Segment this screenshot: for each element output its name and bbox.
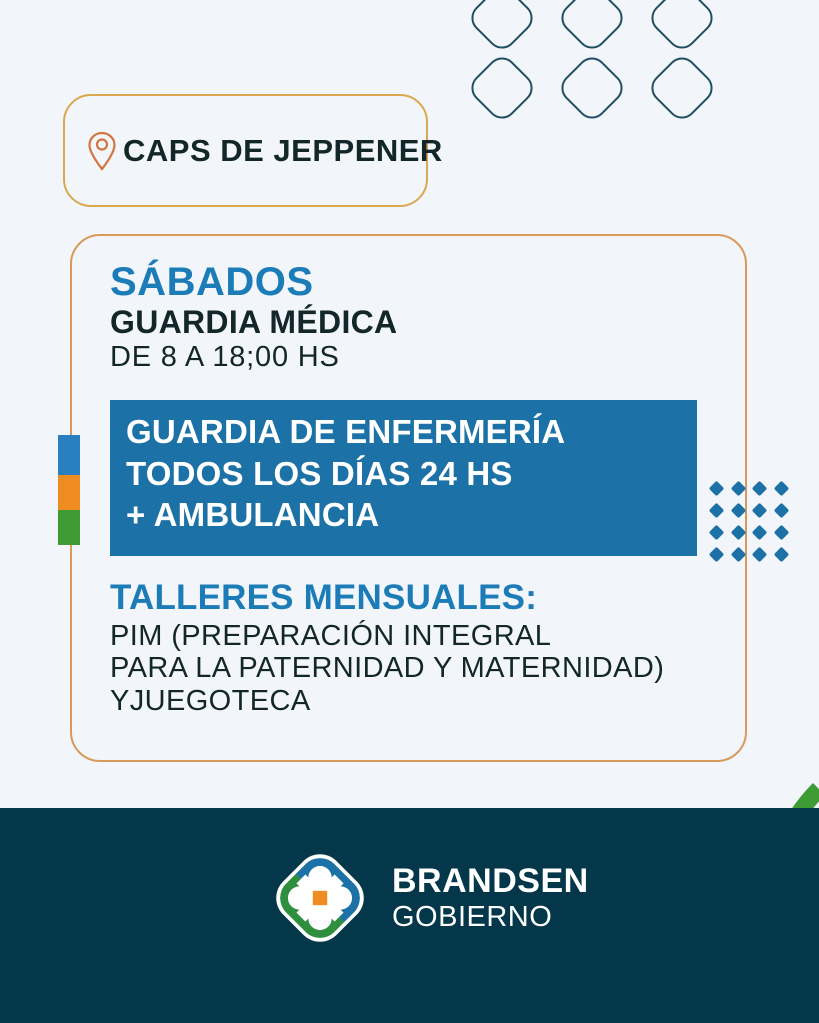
diamond-dot-icon [773,524,789,540]
rounded-square-icon [555,51,629,125]
heading-talleres: TALLERES MENSUALES: [110,580,770,617]
banner-line-1: GUARDIA DE ENFERMERÍA [126,411,697,453]
decorative-dot-grid [706,477,792,565]
workshop-line-1: PIM (PREPARACIÓN INTEGRAL [110,620,770,652]
accent-bar-green-segment [58,510,80,545]
dot-cell [706,543,728,565]
dot-cell [728,499,750,521]
brand-lockup: BRANDSEN GOBIERNO [266,844,589,952]
diamond-dot-icon [773,502,789,518]
dot-cell [749,521,771,543]
dot-cell [706,499,728,521]
decorative-rounded-squares [462,0,742,130]
dot-cell [771,499,793,521]
diamond-dot-icon [709,502,725,518]
workshop-line-2: PARA LA PATERNIDAD Y MATERNIDAD) [110,652,770,684]
dot-cell [728,543,750,565]
rounded-square-icon [555,0,629,55]
schedule-text: DE 8 A 18;00 HS [110,342,750,374]
heading-guardia-medica: GUARDIA MÉDICA [110,306,750,340]
banner-line-3: + AMBULANCIA [126,494,697,536]
banner-line-2: TODOS LOS DÍAS 24 HS [126,453,697,495]
dot-cell [749,499,771,521]
diamond-dot-icon [730,524,746,540]
card-heading-block: SÁBADOS GUARDIA MÉDICA DE 8 A 18;00 HS [110,262,750,373]
rounded-square-icon [645,0,719,55]
dot-cell [706,477,728,499]
diamond-dot-icon [752,480,768,496]
rounded-square-icon [465,0,539,55]
dot-cell [771,521,793,543]
rounded-square-icon [645,51,719,125]
diamond-dot-icon [773,546,789,562]
diamond-dot-icon [773,480,789,496]
workshop-line-3: YJUEGOTECA [110,685,770,717]
location-chip: CAPS DE JEPPENER [63,94,428,207]
brandsen-clover-logo-icon [266,844,374,952]
accent-bar-blue-segment [58,435,80,475]
location-label: CAPS DE JEPPENER [123,133,443,169]
rounded-square-icon [465,51,539,125]
dot-cell [728,521,750,543]
dot-cell [706,521,728,543]
diamond-dot-icon [709,480,725,496]
dot-cell [771,477,793,499]
diamond-dot-icon [709,546,725,562]
diamond-dot-icon [730,480,746,496]
diamond-dot-icon [752,524,768,540]
map-pin-icon [85,130,119,172]
diamond-dot-icon [730,546,746,562]
accent-bar-orange-segment [58,475,80,510]
footer-bar: BRANDSEN GOBIERNO [0,808,819,1023]
diamond-dot-icon [730,502,746,518]
heading-sabados: SÁBADOS [110,262,750,302]
dot-cell [749,477,771,499]
brand-subtitle: GOBIERNO [392,903,589,932]
dot-cell [771,543,793,565]
poster-canvas: CAPS DE JEPPENER SÁBADOS GUARDIA MÉDICA … [0,0,819,1023]
brand-name: BRANDSEN [392,864,589,898]
dot-cell [728,477,750,499]
dot-cell [749,543,771,565]
tricolor-accent-bar [58,435,80,545]
brand-text-group: BRANDSEN GOBIERNO [392,864,589,932]
diamond-dot-icon [752,502,768,518]
diamond-dot-icon [709,524,725,540]
nursing-service-banner: GUARDIA DE ENFERMERÍA TODOS LOS DÍAS 24 … [110,400,697,556]
workshops-block: TALLERES MENSUALES: PIM (PREPARACIÓN INT… [110,580,770,717]
diamond-dot-icon [752,546,768,562]
